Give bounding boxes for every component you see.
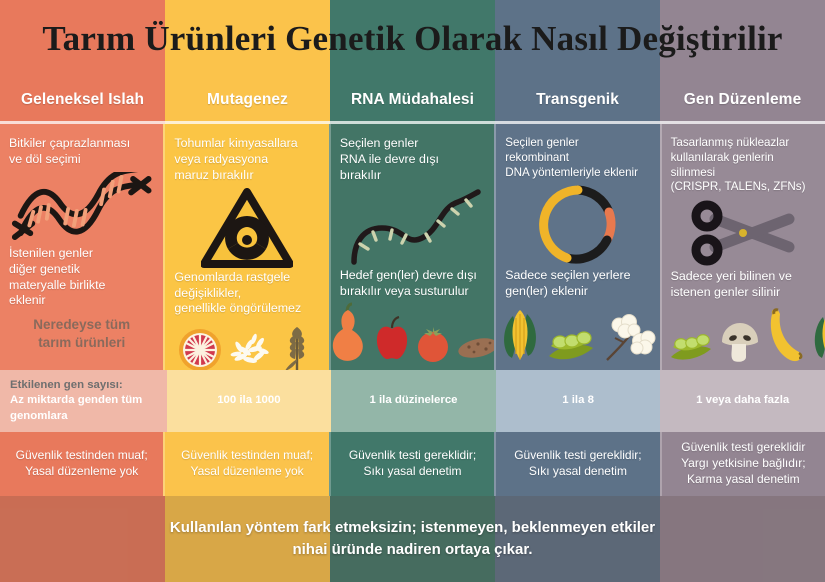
footer-band: Kullanılan yöntem fark etmeksizin; isten… [0, 496, 825, 582]
gene-count-value: 1 veya daha fazla [696, 393, 789, 408]
crop-icon-row [174, 317, 319, 370]
regulation-cell-gen-duzenleme: Güvenlik testi gereklidir Yargı yetkisin… [660, 432, 825, 496]
page-title: Tarım Ürünleri Genetik Olarak Nasıl Deği… [0, 0, 825, 78]
plasmid-ring-icon [505, 184, 650, 266]
crop-icon-row [505, 304, 650, 366]
column-header-mutagenez: Mutagenez [165, 78, 330, 124]
corn-icon [499, 304, 541, 364]
regulation-row: Güvenlik testinden muaf; Yasal düzenleme… [0, 432, 825, 496]
squash-icon [329, 302, 370, 364]
tomato-icon [414, 324, 452, 364]
method-result: Genomlarda rastgele değişiklikler, genel… [174, 270, 319, 318]
title-band: Tarım Ürünleri Genetik Olarak Nasıl Deği… [0, 0, 825, 78]
gene-count-cell-transgenik: 1 ila 8 [496, 370, 661, 432]
regulation-cell-transgenik: Güvenlik testi gereklidir; Sıkı yasal de… [494, 432, 659, 496]
method-description: Seçilen genler rekombinant DNA yöntemler… [505, 136, 650, 180]
gene-count-value: 1 ila düzinelerce [369, 393, 457, 408]
column-header-geleneksel-islah: Geleneksel Islah [0, 78, 165, 124]
regulation-cell-rna-mudahalesi: Güvenlik testi gereklidir; Sıkı yasal de… [329, 432, 494, 496]
method-cell-geleneksel-islah: Bitkiler çaprazlanması ve döl seçimi [0, 124, 163, 370]
infographic-root: Tarım Ürünleri Genetik Olarak Nasıl Deği… [0, 0, 825, 582]
wheat-stalk-icon [660, 312, 665, 364]
radiation-hazard-triangle-icon [174, 188, 319, 268]
grapefruit-icon [177, 327, 223, 370]
regulation-cell-geleneksel-islah: Güvenlik testinden muaf; Yasal düzenleme… [0, 432, 163, 496]
gene-count-value: Az miktarda genden tüm genomlara [10, 393, 142, 423]
potato-icon [456, 332, 495, 364]
method-description: Tohumlar kimyasallara veya radyasyona ma… [174, 136, 319, 184]
rna-single-strand-icon [340, 188, 485, 266]
method-result: Sadece yeri bilinen ve istenen genler si… [671, 269, 816, 301]
gene-count-value: 100 ila 1000 [217, 393, 280, 408]
banana-icon [766, 306, 806, 364]
column-header-transgenik: Transgenik [495, 78, 660, 124]
gene-count-label: Etkilenen gen sayısı: [10, 378, 123, 393]
method-description: Bitkiler çaprazlanması ve döl seçimi [9, 136, 154, 168]
soybean-pod-icon [545, 320, 597, 364]
column-header-gen-duzenleme: Gen Düzenleme [660, 78, 825, 124]
method-result: Sadece seçilen yerlere gen(ler) eklenir [505, 268, 650, 300]
gene-count-cell-mutagenez: 100 ila 1000 [167, 370, 332, 432]
gene-count-cell-rna-mudahalesi: 1 ila düzinelerce [331, 370, 496, 432]
method-body-row: Bitkiler çaprazlanması ve döl seçimi [0, 124, 825, 370]
wheat-stalk-icon [277, 317, 317, 370]
corn-icon [810, 306, 825, 364]
method-result: İstenilen genler diğer genetik materyall… [9, 246, 154, 310]
mushroom-icon [718, 320, 762, 364]
method-cell-gen-duzenleme: Tasarlanmış nükleazlar kullanılarak genl… [660, 124, 825, 370]
method-description: Tasarlanmış nükleazlar kullanılarak genl… [671, 136, 816, 195]
column-header-row: Geleneksel Islah Mutagenez RNA Müdahales… [0, 78, 825, 124]
method-cell-rna-mudahalesi: Seçilen genler RNA ile devre dışı bırakı… [329, 124, 494, 370]
gene-count-cell-geleneksel-islah: Etkilenen gen sayısı: Az miktarda genden… [0, 370, 167, 432]
soybean-pod-icon [668, 324, 714, 364]
apple-icon [374, 316, 410, 364]
regulation-cell-mutagenez: Güvenlik testinden muaf; Yasal düzenleme… [163, 432, 328, 496]
column-header-rna-mudahalesi: RNA Müdahalesi [330, 78, 495, 124]
crop-icon-row [340, 302, 485, 366]
dna-double-helix-icon [9, 172, 154, 244]
method-cell-mutagenez: Tohumlar kimyasallara veya radyasyona ma… [163, 124, 328, 370]
scissors-icon [671, 199, 816, 267]
crop-icon-row [671, 306, 816, 366]
cotton-boll-icon [601, 312, 657, 364]
rice-grains-icon [227, 327, 273, 370]
method-highlight: Neredeyse tüm tarım ürünleri [9, 316, 154, 351]
gene-count-cell-gen-duzenleme: 1 veya daha fazla [660, 370, 825, 432]
footer-note: Kullanılan yöntem fark etmeksizin; isten… [0, 496, 825, 582]
method-cell-transgenik: Seçilen genler rekombinant DNA yöntemler… [494, 124, 659, 370]
method-result: Hedef gen(ler) devre dışı bırakılır veya… [340, 268, 485, 300]
gene-count-value: 1 ila 8 [562, 393, 594, 408]
method-description: Seçilen genler RNA ile devre dışı bırakı… [340, 136, 485, 184]
gene-count-row: Etkilenen gen sayısı: Az miktarda genden… [0, 370, 825, 432]
